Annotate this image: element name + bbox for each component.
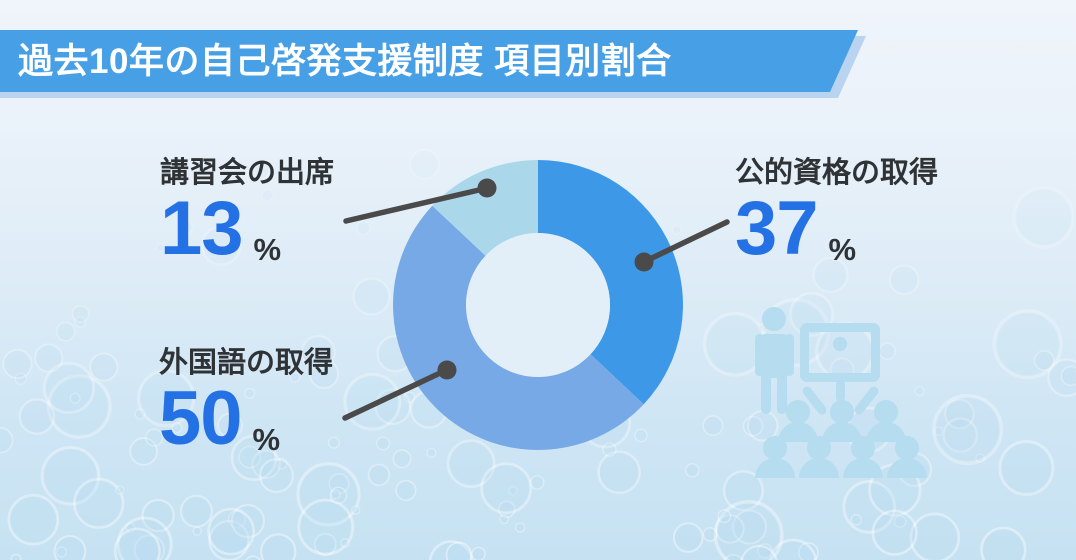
bubble-decoration-fill xyxy=(300,466,356,522)
bubble-decoration xyxy=(674,523,703,552)
bubble-decoration-fill xyxy=(261,461,291,491)
bubble-decoration xyxy=(870,465,921,516)
bubble-decoration-fill xyxy=(369,465,388,484)
presenter-leg-left-icon xyxy=(761,372,771,414)
bubble-decoration xyxy=(245,556,261,560)
bubble-decoration xyxy=(115,529,159,560)
bubble-decoration xyxy=(944,419,977,452)
bubble-decoration xyxy=(330,487,346,503)
bubble-decoration-fill xyxy=(759,324,767,332)
bubble-decoration xyxy=(911,514,959,560)
bubble-decoration xyxy=(831,358,854,381)
bubble-decoration-fill xyxy=(872,467,919,514)
bubble-decoration-fill xyxy=(734,512,765,543)
bubble-decoration xyxy=(716,515,744,543)
bubble-decoration xyxy=(341,539,349,547)
bubble-decoration xyxy=(345,374,400,429)
bubble-decoration xyxy=(509,487,517,495)
bubble-decoration-fill xyxy=(846,484,893,531)
bubble-decoration xyxy=(277,458,287,468)
bubble-decoration-fill xyxy=(686,464,698,476)
bubble-decoration xyxy=(181,496,212,527)
presenter-leg-right-icon xyxy=(777,372,787,414)
bubble-decoration-fill xyxy=(448,544,471,560)
bubble-decoration-fill xyxy=(1062,367,1076,385)
bubble-decoration xyxy=(126,523,135,532)
bubble-decoration xyxy=(193,527,201,535)
callout-unit-kousyuu: % xyxy=(254,232,282,268)
bubble-decoration xyxy=(894,516,905,527)
bubble-decoration-fill xyxy=(1002,444,1051,493)
bubble-decoration-fill xyxy=(707,316,764,373)
bubble-decoration xyxy=(844,482,895,533)
bubble-decoration xyxy=(499,501,515,517)
bubble-decoration-fill xyxy=(516,523,524,531)
easel-leg-right-icon xyxy=(853,385,880,417)
bubble-decoration-fill xyxy=(357,222,369,234)
bubble-decoration xyxy=(976,454,984,462)
bubble-decoration xyxy=(56,322,74,340)
bubble-decoration xyxy=(90,353,117,380)
bubble-decoration-fill xyxy=(983,530,1023,560)
presenter-body-icon xyxy=(757,334,791,378)
bubble-decoration xyxy=(873,511,917,555)
audience-row-front-icon xyxy=(755,436,927,478)
bubble-decoration xyxy=(48,376,110,438)
callout-unit-koteki: % xyxy=(829,232,857,268)
bubble-decoration-fill xyxy=(11,497,56,542)
bubble-decoration xyxy=(898,453,931,486)
bubble-decoration xyxy=(42,448,99,505)
bubble-decoration xyxy=(934,396,1002,464)
bubble-decoration-fill xyxy=(277,459,286,468)
bubble-decoration-fill xyxy=(12,555,21,560)
bubble-decoration xyxy=(352,506,360,514)
bubble-decoration-fill xyxy=(875,513,915,553)
easel-leg-left-icon xyxy=(801,385,828,417)
bubble-decoration xyxy=(599,452,640,493)
bubble-decoration-fill xyxy=(432,543,471,560)
bubble-decoration xyxy=(1048,359,1076,396)
bubble-decoration-fill xyxy=(717,516,743,542)
callout-label-kousyuu: 講習会の出席 13 % xyxy=(160,158,334,266)
bubble-decoration-fill xyxy=(76,481,121,526)
bubble-decoration-fill xyxy=(600,453,638,491)
easel-center-leg-icon xyxy=(836,380,845,402)
bubble-decoration-fill xyxy=(194,527,201,534)
bubble-decoration xyxy=(994,311,1061,378)
bubble-decoration-fill xyxy=(819,325,871,377)
bubble-decoration-fill xyxy=(935,428,942,435)
bubble-decoration xyxy=(790,293,832,335)
bubble-decoration xyxy=(75,317,85,327)
bubble-decoration xyxy=(209,509,254,554)
bubble-decoration-fill xyxy=(937,398,999,460)
callout-number-gaikoku: 50 xyxy=(159,382,242,456)
bubble-decoration-fill xyxy=(355,280,388,313)
bubble-decoration xyxy=(116,486,124,494)
bubble-decoration xyxy=(9,495,58,544)
bubble-decoration-fill xyxy=(759,545,772,558)
bubble-decoration-fill xyxy=(131,439,156,464)
bubble-decoration xyxy=(315,534,336,555)
bubble-decoration xyxy=(15,373,26,384)
bubble-decoration-fill xyxy=(330,475,348,493)
bubble-decoration-fill xyxy=(916,387,924,395)
page-title: 過去10年の自己啓発支援制度 項目別割合 xyxy=(0,44,672,79)
presenter-head-icon xyxy=(762,307,786,331)
bubble-decoration xyxy=(758,544,772,558)
bubble-decoration xyxy=(20,399,54,433)
bubble-decoration xyxy=(724,471,763,510)
callout-label-gaikoku: 外国語の取得 50 % xyxy=(159,348,333,456)
bubble-decoration xyxy=(472,548,485,560)
bubble-decoration xyxy=(516,523,525,532)
bubble-decoration-fill xyxy=(229,512,244,527)
seminar-presentation-audience-icon xyxy=(735,302,960,492)
bubble-decoration xyxy=(298,464,359,525)
bubble-decoration xyxy=(945,400,974,429)
bubble-decoration xyxy=(44,363,94,413)
bubble-decoration xyxy=(143,500,174,531)
bubble-decoration-fill xyxy=(946,401,972,427)
bubble-decoration xyxy=(118,518,171,560)
bubble-decoration-fill xyxy=(332,490,340,498)
bubble-decoration-fill xyxy=(91,354,116,379)
bubble-decoration xyxy=(763,299,829,365)
bubble-decoration xyxy=(1014,187,1074,247)
bubble-decoration-fill xyxy=(233,506,263,536)
bubble-decoration-fill xyxy=(57,323,74,340)
bubble-decoration xyxy=(135,535,164,560)
bubble-decoration-fill xyxy=(900,455,930,485)
bubble-decoration-fill xyxy=(744,418,761,435)
donut-chart-svg xyxy=(393,160,683,450)
bubble-decoration-fill xyxy=(484,466,529,511)
bubble-decoration xyxy=(716,502,782,560)
bubble-decoration-fill xyxy=(301,502,351,552)
presenter-arm-right-icon xyxy=(785,334,794,376)
bubble-decoration-fill xyxy=(675,524,701,550)
bubble-decoration xyxy=(718,510,730,522)
bubble-decoration xyxy=(799,543,818,560)
bubble-decoration-fill xyxy=(749,412,776,439)
bubble-decoration xyxy=(135,409,145,419)
bubble-decoration-fill xyxy=(851,515,860,524)
bubble-decoration xyxy=(130,438,157,465)
bubble-decoration-fill xyxy=(331,488,346,503)
bubble-decoration xyxy=(0,428,13,453)
bubble-decoration-fill xyxy=(117,531,158,560)
callout-number-koteki: 37 xyxy=(735,192,818,266)
bubble-decoration xyxy=(741,546,777,560)
bubble-decoration xyxy=(35,344,62,371)
bubble-decoration-fill xyxy=(704,417,722,435)
bubble-decoration-fill xyxy=(4,351,30,377)
bubble-decoration xyxy=(11,555,21,560)
bubble-decoration-fill xyxy=(73,306,88,321)
bubble-decoration xyxy=(703,416,722,435)
bubble-decoration-fill xyxy=(1050,361,1076,395)
presenter-arm-left-icon xyxy=(755,334,764,376)
bubble-decoration xyxy=(748,411,778,441)
bubble-decoration-fill xyxy=(427,449,435,457)
bubble-decoration-fill xyxy=(499,502,514,517)
bubble-decoration-fill xyxy=(726,473,762,509)
bubble-decoration-fill xyxy=(116,487,123,494)
callout-unit-gaikoku: % xyxy=(253,422,281,458)
bubble-decoration xyxy=(890,265,919,294)
callout-label-koteki: 公的資格の取得 37 % xyxy=(735,158,938,266)
bubble-decoration xyxy=(817,323,874,380)
bubble-decoration-fill xyxy=(56,537,84,560)
bubble-decoration xyxy=(393,450,410,467)
bubble-decoration xyxy=(369,465,390,486)
bubble-decoration xyxy=(531,476,544,489)
bubble-decoration-fill xyxy=(473,548,485,560)
bubble-decoration xyxy=(260,459,293,492)
bubble-decoration-fill xyxy=(397,481,415,499)
bubble-decoration xyxy=(847,408,891,452)
bubble-decoration xyxy=(744,417,763,436)
bubble-decoration-fill xyxy=(352,506,359,513)
bubble-decoration xyxy=(72,306,88,322)
bubble-decoration xyxy=(430,542,472,560)
bubble-decoration-fill xyxy=(21,401,53,433)
bubble-decoration xyxy=(70,393,80,403)
audience-row-back-icon xyxy=(778,400,906,442)
callout-value-row-gaikoku: 50 % xyxy=(159,382,333,456)
bubble-decoration xyxy=(261,534,295,560)
bubble-decoration-fill xyxy=(44,450,96,502)
donut-chart xyxy=(393,160,683,450)
whiteboard-frame-icon xyxy=(800,323,880,382)
bubble-decoration-fill xyxy=(46,365,92,411)
bubble-decoration-fill xyxy=(1016,190,1071,245)
bubble-decoration-fill xyxy=(1035,352,1053,370)
bubble-decoration xyxy=(915,387,924,396)
bubble-decoration xyxy=(686,464,699,477)
bubble-decoration-fill xyxy=(718,505,779,560)
bubble-decoration xyxy=(704,528,717,541)
bubble-decoration-fill xyxy=(848,410,888,450)
bubble-decoration xyxy=(331,490,340,499)
bubble-decoration-fill xyxy=(377,438,389,450)
donut-center-hole xyxy=(466,233,610,377)
bubble-decoration-fill xyxy=(136,410,145,419)
bubble-decoration-fill xyxy=(891,267,918,294)
bubble-decoration-fill xyxy=(0,429,12,452)
bubble-decoration xyxy=(851,515,861,525)
bubble-decoration xyxy=(981,528,1025,560)
bubble-decoration xyxy=(759,324,767,332)
bubble-decoration-fill xyxy=(262,536,294,560)
bubble-decoration-fill xyxy=(347,376,398,427)
bubble-decoration-fill xyxy=(997,314,1058,375)
bubble-decoration xyxy=(353,278,389,314)
bubble-decoration-fill xyxy=(182,497,210,525)
bubble-decoration-fill xyxy=(895,516,906,527)
bubble-decoration xyxy=(3,350,31,378)
bubble-decoration-fill xyxy=(913,516,957,560)
whiteboard-dot-icon xyxy=(833,337,847,351)
bubble-decoration-fill xyxy=(75,317,85,327)
bubble-decoration-fill xyxy=(509,487,517,495)
bubble-decoration-fill xyxy=(976,454,984,462)
bubble-decoration xyxy=(1035,351,1054,370)
bubble-decoration xyxy=(232,505,264,537)
bubble-decoration xyxy=(482,464,531,513)
bubble-decoration-fill xyxy=(719,511,730,522)
bubble-decoration xyxy=(229,511,246,528)
bubble-decoration-fill xyxy=(765,302,826,363)
bubble-decoration xyxy=(1061,367,1076,386)
bubble-decoration-fill xyxy=(16,374,26,384)
bubble-decoration xyxy=(55,536,86,560)
bubble-decoration-fill xyxy=(57,548,66,557)
bubble-decoration-fill xyxy=(127,524,135,532)
bubble-decoration-fill xyxy=(945,420,975,450)
bubble-decoration-fill xyxy=(800,544,818,560)
bubble-decoration xyxy=(396,481,416,501)
bubble-decoration xyxy=(299,500,353,554)
bubble-decoration-fill xyxy=(394,451,410,467)
callout-number-kousyuu: 13 xyxy=(160,192,243,266)
infographic-canvas: 過去10年の自己啓発支援制度 項目別割合 講習会の出席 13 % 外国語の取得 … xyxy=(0,0,1076,560)
bubble-decoration xyxy=(57,547,67,557)
bubble-decoration-fill xyxy=(341,539,348,546)
bubble-decoration-fill xyxy=(831,359,852,380)
bubble-decoration-fill xyxy=(36,346,61,371)
bubble-decoration-fill xyxy=(136,536,163,560)
bubble-decoration xyxy=(329,474,349,494)
bubble-decoration-fill xyxy=(792,295,831,334)
bubble-decoration-fill xyxy=(880,344,895,359)
bubble-decoration-fill xyxy=(71,394,80,403)
bubble-decoration xyxy=(770,540,816,560)
bubble-decoration-fill xyxy=(51,378,108,435)
bubble-decoration xyxy=(74,479,123,528)
title-banner: 過去10年の自己啓発支援制度 項目別割合 xyxy=(0,30,858,92)
bubble-decoration-fill xyxy=(704,528,716,540)
bubble-decoration-fill xyxy=(210,511,252,553)
bubble-decoration-fill xyxy=(743,548,776,560)
bubble-decoration xyxy=(935,427,943,435)
bubble-decoration-fill xyxy=(724,556,744,560)
bubble-decoration xyxy=(879,343,895,359)
bubble-decoration-fill xyxy=(531,476,543,488)
bubble-decoration-fill xyxy=(211,523,247,559)
callout-value-row-kousyuu: 13 % xyxy=(160,192,334,266)
bubble-decoration xyxy=(447,543,472,560)
bubble-decoration-fill xyxy=(316,535,335,554)
bubble-decoration xyxy=(704,313,766,375)
bubble-decoration xyxy=(733,510,766,543)
bubble-decoration xyxy=(723,555,744,560)
callout-value-row-koteki: 37 % xyxy=(735,192,938,266)
bubble-decoration xyxy=(500,515,508,523)
bubble-decoration xyxy=(357,221,370,234)
bubble-decoration-fill xyxy=(144,501,173,530)
bubble-decoration-fill xyxy=(120,520,169,560)
bubble-decoration xyxy=(210,521,249,560)
bubble-decoration-fill xyxy=(500,515,508,523)
bubble-decoration xyxy=(1000,441,1053,494)
bubble-decoration-fill xyxy=(772,542,814,560)
bubble-decoration xyxy=(377,437,390,450)
